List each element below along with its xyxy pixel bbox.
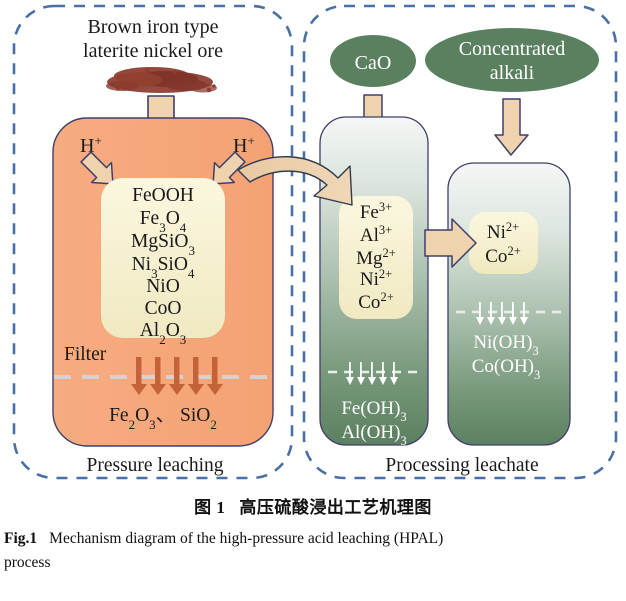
ore-title-line2: laterite nickel ore xyxy=(83,40,223,62)
figure-hpal-mechanism: Brown iron type laterite nickel ore xyxy=(0,0,626,487)
figure-caption: 图 1高压硫酸浸出工艺机理图 Fig.1Mechanism diagram of… xyxy=(0,487,626,601)
leachate-column-2 xyxy=(448,163,570,445)
solid-feooh: FeOOH xyxy=(132,185,194,206)
caption-en-label: Fig.1 xyxy=(4,530,37,547)
ore-pile-icon xyxy=(106,67,217,93)
caption-en-text: Mechanism diagram of the high-pressure a… xyxy=(49,530,443,547)
caption-cn-text: 高压硫酸浸出工艺机理图 xyxy=(239,498,432,517)
alkali-feed-arrow xyxy=(495,99,528,155)
reagent-alkali-label-line2: alkali xyxy=(490,62,535,84)
caption-chinese: 图 1高压硫酸浸出工艺机理图 xyxy=(0,487,626,518)
reagent-alkali-label-line1: Concentrated xyxy=(459,38,566,60)
solid-nio: NiO xyxy=(146,276,180,297)
filter-label: Filter xyxy=(64,344,107,365)
caption-english-line2: process xyxy=(0,551,626,572)
ore-title-line1: Brown iron type xyxy=(87,16,218,38)
caption-cn-label: 图 1 xyxy=(194,498,225,517)
panel-label-processing-leachate: Processing leachate xyxy=(385,455,538,476)
reagent-cao-label: CaO xyxy=(355,52,392,74)
caption-english-line1: Fig.1Mechanism diagram of the high-press… xyxy=(0,518,626,551)
panel-label-pressure-leaching: Pressure leaching xyxy=(87,455,224,476)
solid-coo: CoO xyxy=(145,298,182,319)
